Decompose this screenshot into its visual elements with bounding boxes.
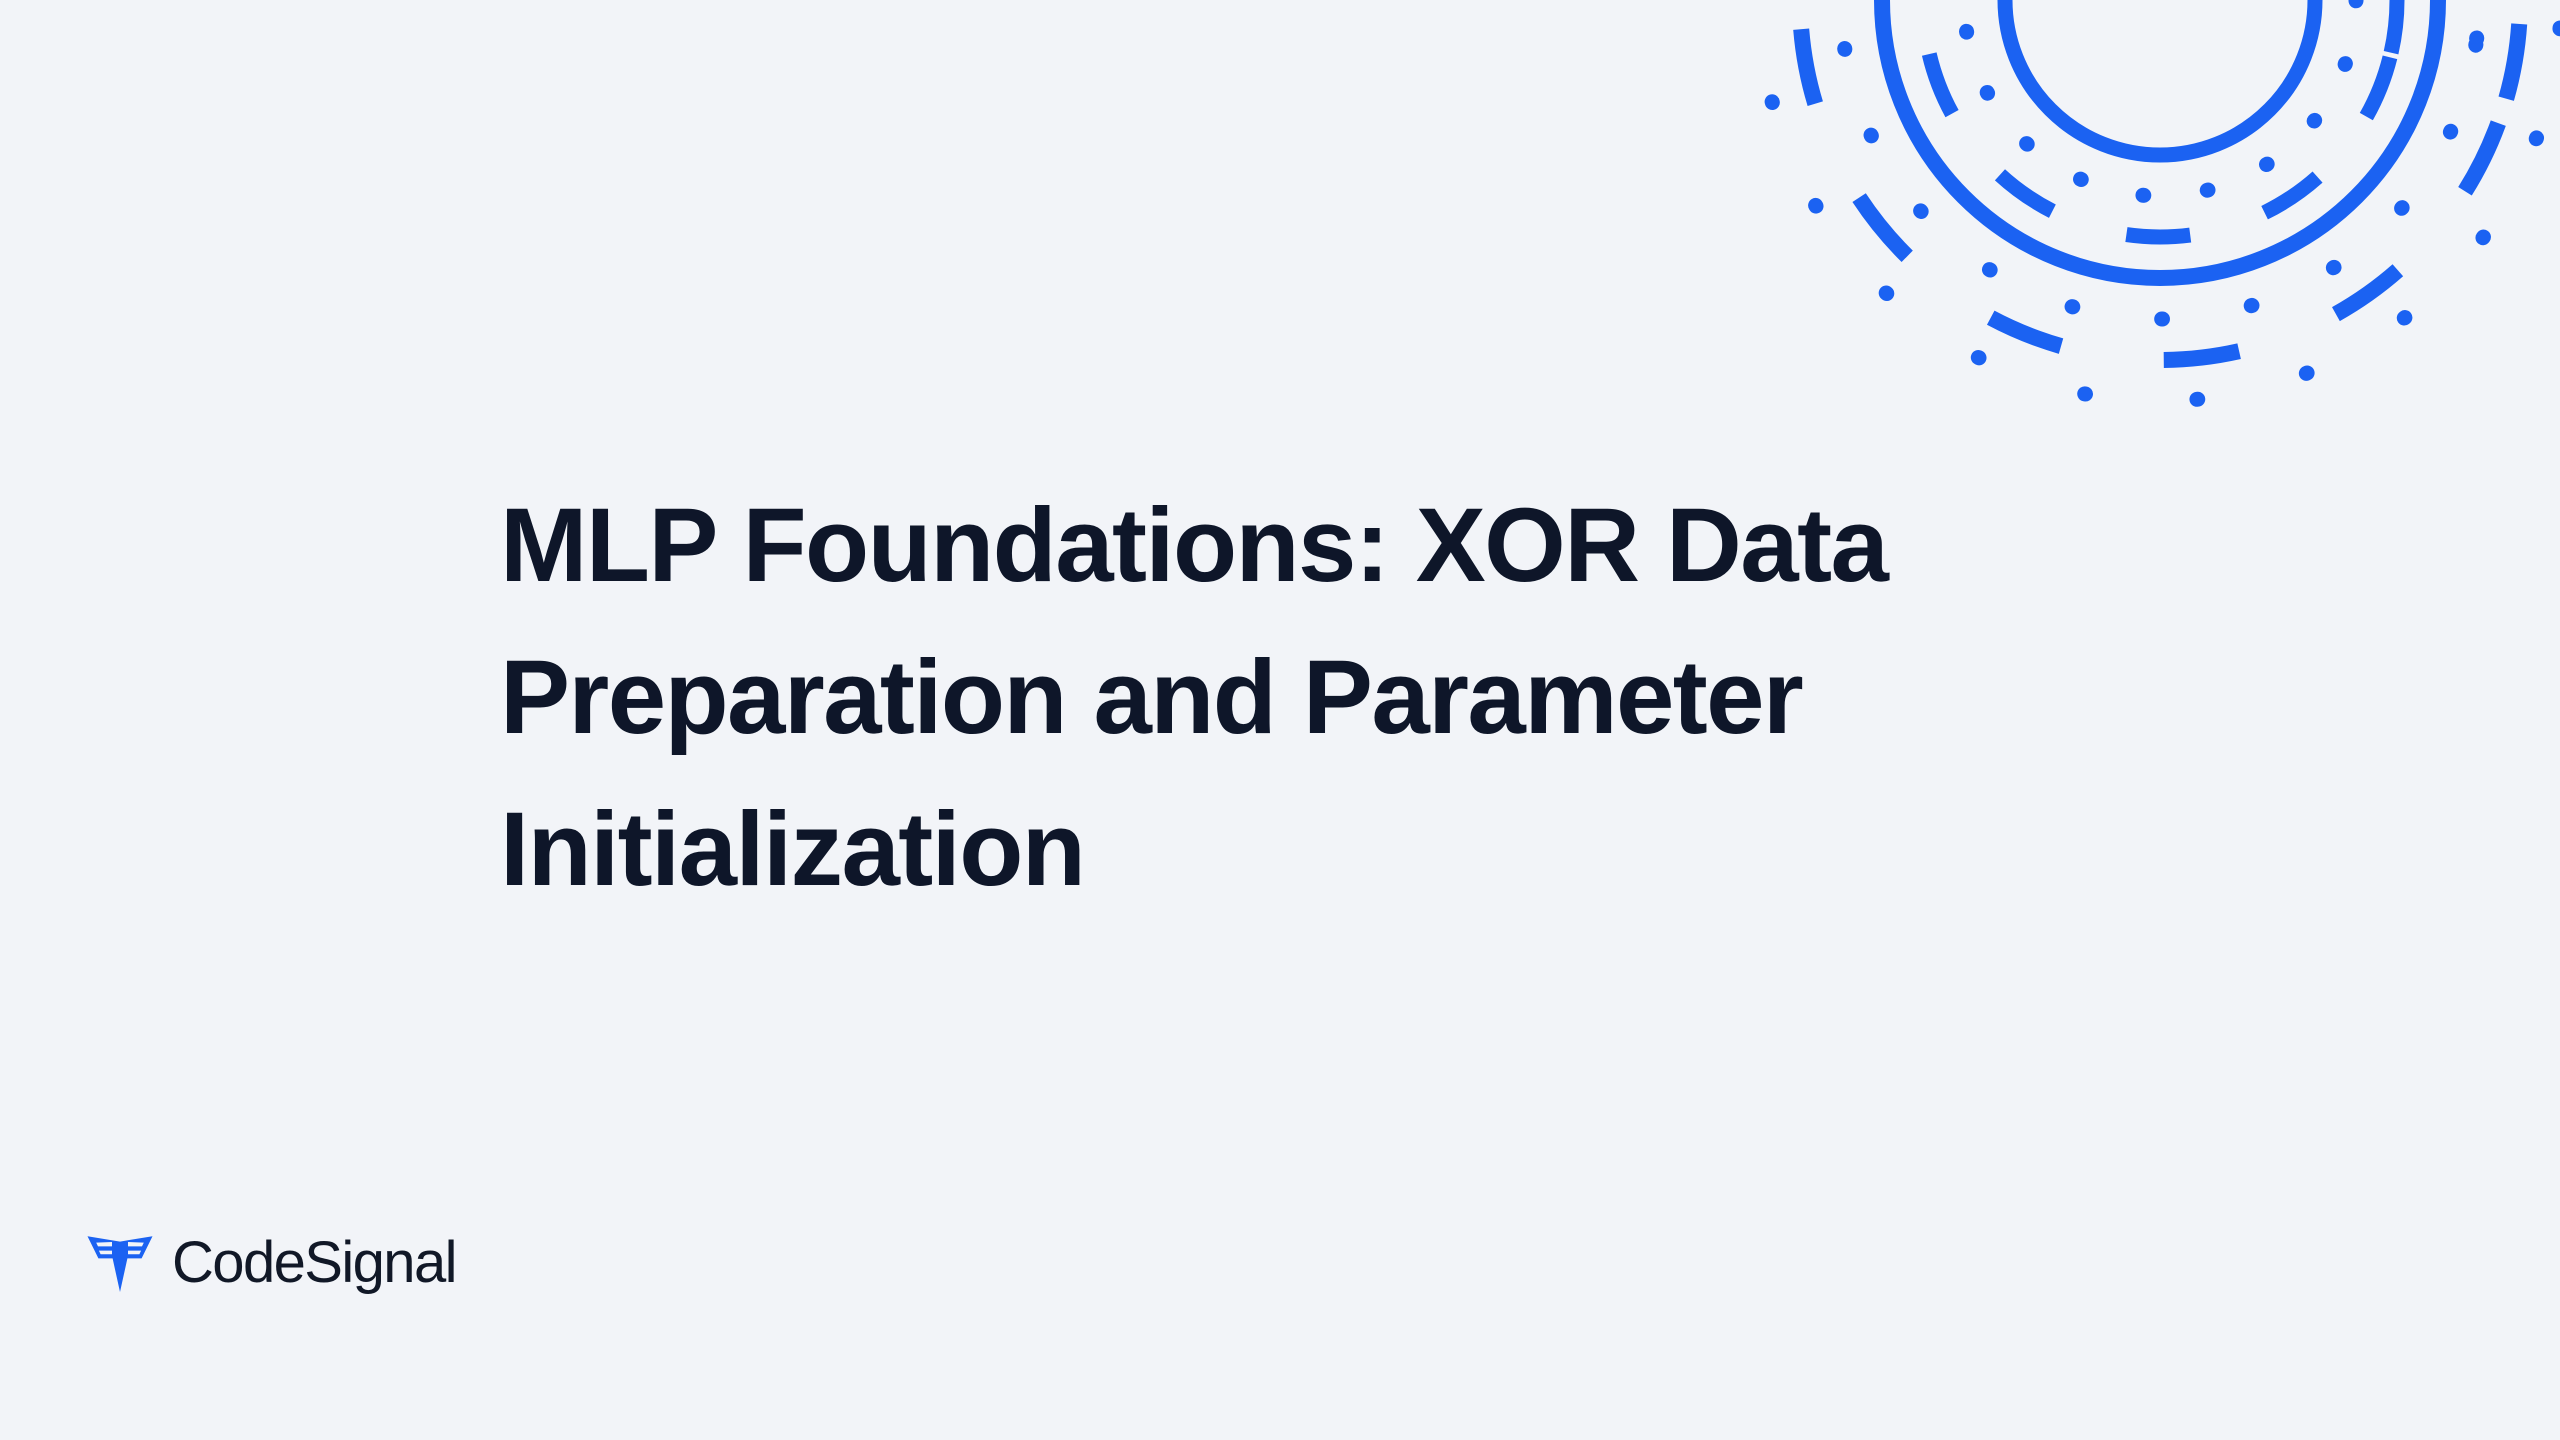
ring-dotted-3 <box>1732 0 2560 428</box>
ring-dotted-1 <box>1964 0 2356 196</box>
ring-solid-outer <box>1882 0 2438 278</box>
title-block: MLP Foundations: XOR Data Preparation an… <box>500 470 2140 926</box>
ring-dashed-1 <box>1873 0 2448 287</box>
title-slide: MLP Foundations: XOR Data Preparation an… <box>0 0 2560 1440</box>
ring-solid-inner <box>2005 0 2315 155</box>
page-title: MLP Foundations: XOR Data Preparation an… <box>500 470 2140 926</box>
brand-wordmark: CodeSignal <box>172 1234 456 1292</box>
ring-dashed-2 <box>1699 0 2560 461</box>
ring-dotted-2 <box>1800 0 2521 360</box>
codesignal-logo-icon <box>86 1232 154 1294</box>
concentric-rings-graphic <box>1700 0 2560 370</box>
brand-logo: CodeSignal <box>86 1232 456 1294</box>
